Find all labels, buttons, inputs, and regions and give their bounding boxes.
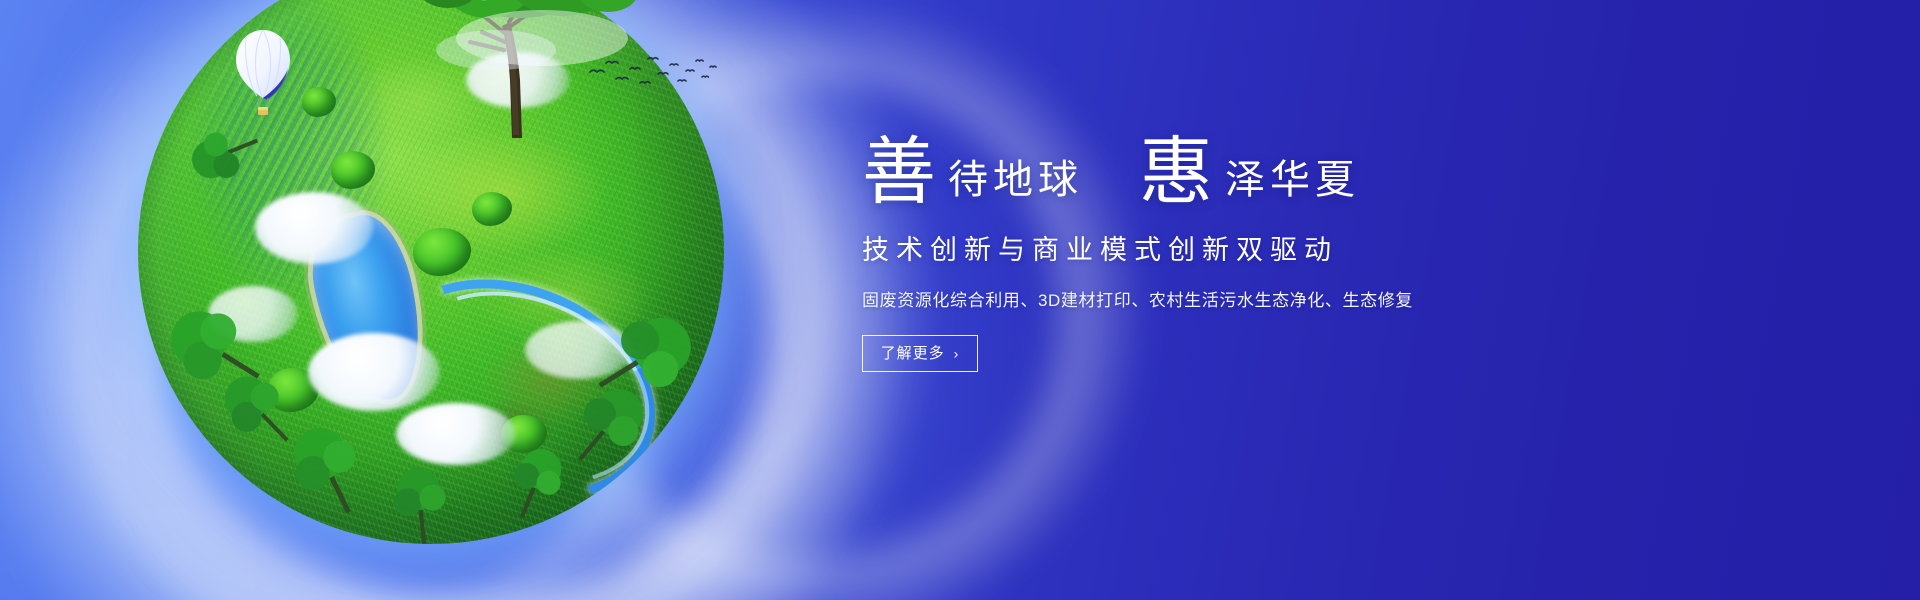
page-subtitle: 技术创新与商业模式创新双驱动 <box>862 228 1562 267</box>
birds-flock-icon <box>586 52 718 96</box>
tree-icon <box>392 0 642 140</box>
cloud-shape <box>396 403 516 465</box>
shrub-icon <box>302 87 336 117</box>
cloud-shape <box>208 286 298 342</box>
shrub-icon <box>413 228 471 276</box>
learn-more-label: 了解更多 <box>881 346 945 361</box>
river-highlight <box>372 256 679 520</box>
hero-banner: 善 待地球 惠 泽华夏 技术创新与商业模式创新双驱动 固废资源化综合利用、3D建… <box>0 0 1920 600</box>
headline-part2-small: 泽华夏 <box>1213 160 1360 200</box>
forest-rim <box>138 0 724 544</box>
shrub-icon <box>501 415 547 453</box>
shrub-icon <box>331 151 375 189</box>
cloud-shape <box>525 321 633 379</box>
cloud-shape <box>255 192 373 264</box>
cloud-shape <box>466 52 570 108</box>
page-description: 固废资源化综合利用、3D建材打印、农村生活污水生态净化、生态修复 <box>862 286 1562 311</box>
shrub-icon <box>472 192 512 226</box>
meadow-patches <box>138 0 724 544</box>
river-shape <box>344 240 689 541</box>
headline-part1-large: 善 <box>862 136 936 210</box>
cloud-shape <box>308 333 440 411</box>
headline-part1-small: 待地球 <box>936 160 1083 200</box>
planet-sphere <box>138 0 724 544</box>
green-planet-image <box>138 0 724 544</box>
grass-texture <box>138 0 724 544</box>
hot-air-balloon-icon <box>232 28 294 124</box>
rim-trees-icon <box>138 0 724 544</box>
chevron-right-icon: › <box>954 346 960 360</box>
mountain-ridge <box>138 0 724 544</box>
learn-more-button[interactable]: 了解更多 › <box>862 335 978 372</box>
hero-copy: 善 待地球 惠 泽华夏 技术创新与商业模式创新双驱动 固废资源化综合利用、3D建… <box>862 132 1562 372</box>
headline-part2-large: 惠 <box>1139 136 1213 210</box>
lake-shape <box>301 208 434 410</box>
sky-highlight <box>120 30 880 570</box>
shrub-icon <box>267 368 319 412</box>
page-title: 善 待地球 惠 泽华夏 <box>862 132 1562 206</box>
cloud-band-3 <box>0 0 826 600</box>
